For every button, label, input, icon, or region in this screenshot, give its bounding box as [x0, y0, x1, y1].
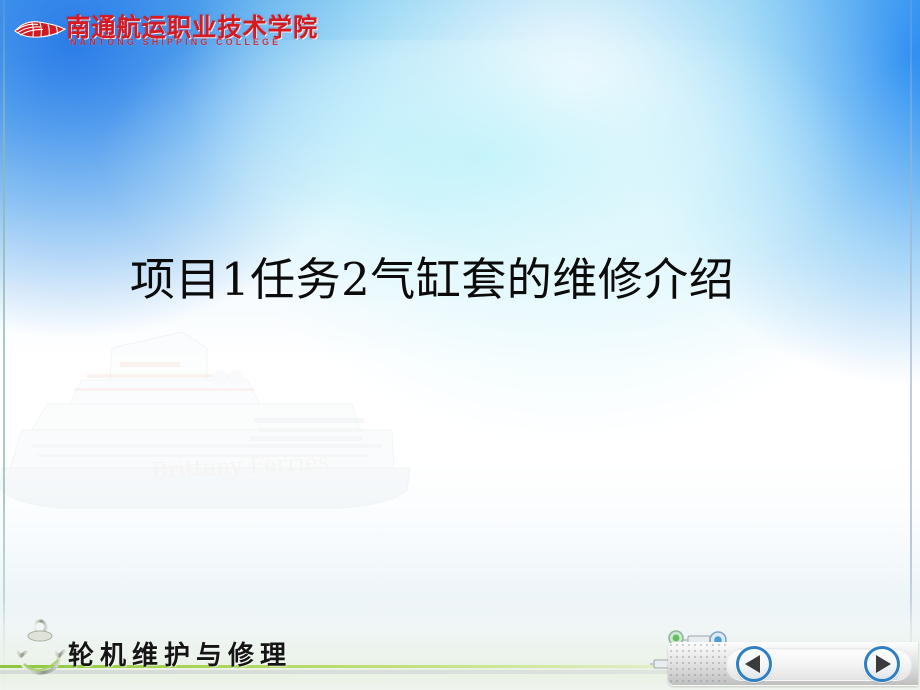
presentation-slide: Brittany Ferries 南通航运职业技术学院 NANTONG S [0, 0, 920, 690]
previous-slide-button[interactable] [736, 646, 772, 682]
anchor-icon [12, 618, 68, 680]
red-wave-logo-icon [12, 16, 68, 42]
triangle-right-icon [876, 655, 891, 673]
next-slide-button[interactable] [864, 646, 900, 682]
slide-right-border [910, 0, 912, 690]
slide-left-border [3, 0, 5, 690]
course-title: 轮机维护与修理 [68, 635, 292, 672]
cruise-ferry-image: Brittany Ferries [0, 318, 462, 518]
page-title: 项目1任务2气缸套的维修介绍 [130, 252, 830, 308]
slide-navigation-bar [668, 642, 918, 686]
slide-header: 南通航运职业技术学院 NANTONG SHIPPING COLLEGE [0, 0, 292, 58]
institution-name-en: NANTONG SHIPPING COLLEGE [70, 37, 281, 47]
nav-dot-texture [668, 642, 730, 686]
triangle-left-icon [745, 655, 760, 673]
